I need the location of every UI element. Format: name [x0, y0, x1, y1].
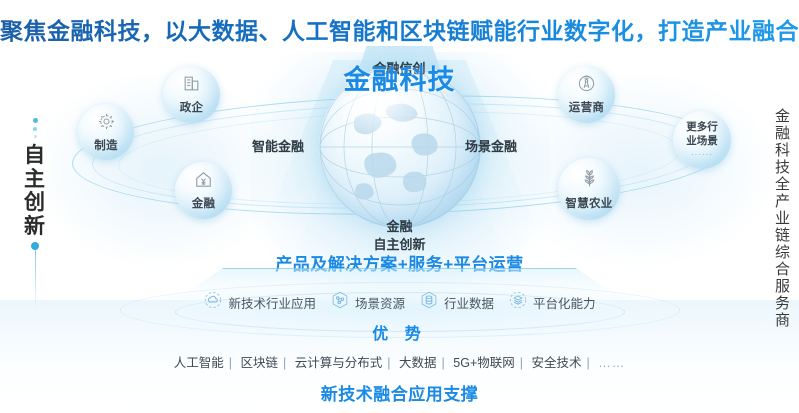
left-vertical-group: 自主创新	[18, 118, 52, 312]
tech-item: 云计算与分布式	[295, 356, 383, 370]
node-more-scenarios[interactable]: 更多行 业场景 ······	[673, 111, 731, 169]
molecule-icon	[330, 290, 350, 315]
layers-icon	[508, 290, 528, 315]
cloud-icon	[203, 290, 223, 315]
capability-chip-scenario-resource[interactable]: 场景资源	[330, 290, 405, 315]
globe-label-left: 智能金融	[252, 136, 304, 155]
ellipsis-icon: ······	[691, 150, 713, 159]
wheat-icon	[579, 168, 600, 194]
capability-chip-new-tech[interactable]: 新技术行业应用	[203, 290, 316, 315]
node-zhizao[interactable]: 制造	[78, 104, 134, 160]
tech-item: 人工智能	[174, 356, 224, 370]
capability-label: 场景资源	[355, 293, 405, 312]
node-nongye[interactable]: 智慧农业	[558, 158, 620, 220]
bottom-support-line: 新技术融合应用支撑	[0, 380, 799, 405]
node-label: 政企	[180, 99, 204, 115]
node-jinrong[interactable]: 金融	[175, 162, 232, 219]
capability-row: 新技术行业应用 场景资源 行业数据	[0, 290, 799, 315]
capability-label: 行业数据	[444, 293, 494, 312]
node-label: 运营商	[569, 99, 604, 115]
tech-item: 区块链	[241, 356, 279, 370]
page-title: 聚焦金融科技，以大数据、人工智能和区块链赋能行业数字化，打造产业融合新生态	[0, 12, 799, 46]
capability-chip-platform[interactable]: 平台化能力	[508, 290, 596, 315]
infographic-canvas: 聚焦金融科技，以大数据、人工智能和区块链赋能行业数字化，打造产业融合新生态 自主…	[0, 0, 799, 413]
capability-label: 平台化能力	[533, 293, 596, 312]
advantage-heading: 优 势	[0, 320, 799, 344]
gear-icon	[97, 112, 116, 136]
tech-item: 大数据	[399, 356, 437, 370]
node-label: 金融	[192, 195, 216, 211]
node-more-line2: 业场景	[686, 135, 718, 148]
tech-item: 安全技术	[531, 356, 581, 370]
technology-list: 人工智能| 区块链| 云计算与分布式| 大数据| 5G+物联网| 安全技术| ……	[0, 352, 799, 371]
globe-center-title: 金融科技	[0, 58, 799, 97]
capability-label: 新技术行业应用	[228, 293, 316, 312]
house-yuan-icon	[194, 170, 213, 194]
dots-decoration-icon	[18, 118, 52, 144]
database-icon	[419, 290, 439, 315]
globe-label-right: 场景金融	[465, 136, 517, 155]
capability-chip-industry-data[interactable]: 行业数据	[419, 290, 494, 315]
node-label: 制造	[94, 137, 118, 153]
node-label: 智慧农业	[565, 195, 612, 211]
globe-label-bottom-line1: 金融	[373, 218, 425, 236]
left-vertical-label: 自主创新	[18, 144, 52, 238]
node-more-line1: 更多行	[686, 121, 718, 134]
tech-item: 5G+物联网	[453, 356, 514, 370]
tech-ellipsis: ……	[598, 356, 625, 370]
globe-label-bottom: 金融 自主创新	[373, 218, 425, 253]
